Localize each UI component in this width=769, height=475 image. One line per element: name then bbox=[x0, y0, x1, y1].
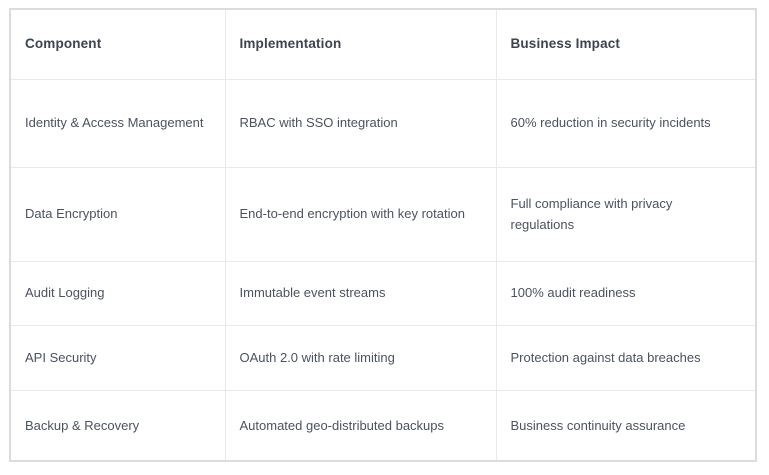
column-header-implementation: Implementation bbox=[225, 10, 496, 79]
cell-business-impact: Full compliance with privacy regulations bbox=[496, 167, 755, 261]
table-row: API Security OAuth 2.0 with rate limitin… bbox=[11, 325, 755, 390]
column-header-business-impact: Business Impact bbox=[496, 10, 755, 79]
table-header: Component Implementation Business Impact bbox=[11, 10, 755, 79]
cell-implementation: End-to-end encryption with key rotation bbox=[225, 167, 496, 261]
column-header-component: Component bbox=[11, 10, 225, 79]
cell-component: Audit Logging bbox=[11, 261, 225, 325]
table-row: Identity & Access Management RBAC with S… bbox=[11, 79, 755, 167]
cell-implementation: Automated geo-distributed backups bbox=[225, 390, 496, 460]
cell-business-impact: Business continuity assurance bbox=[496, 390, 755, 460]
table-row: Data Encryption End-to-end encryption wi… bbox=[11, 167, 755, 261]
table-body: Identity & Access Management RBAC with S… bbox=[11, 79, 755, 460]
cell-component: API Security bbox=[11, 325, 225, 390]
table-row: Backup & Recovery Automated geo-distribu… bbox=[11, 390, 755, 460]
table-row: Audit Logging Immutable event streams 10… bbox=[11, 261, 755, 325]
table-container: Component Implementation Business Impact… bbox=[9, 8, 757, 462]
page-root: Component Implementation Business Impact… bbox=[0, 0, 769, 475]
cell-component: Identity & Access Management bbox=[11, 79, 225, 167]
cell-component: Backup & Recovery bbox=[11, 390, 225, 460]
cell-business-impact: Protection against data breaches bbox=[496, 325, 755, 390]
cell-business-impact: 60% reduction in security incidents bbox=[496, 79, 755, 167]
table-header-row: Component Implementation Business Impact bbox=[11, 10, 755, 79]
cell-implementation: Immutable event streams bbox=[225, 261, 496, 325]
cell-implementation: RBAC with SSO integration bbox=[225, 79, 496, 167]
cell-implementation: OAuth 2.0 with rate limiting bbox=[225, 325, 496, 390]
cell-component: Data Encryption bbox=[11, 167, 225, 261]
cell-business-impact: 100% audit readiness bbox=[496, 261, 755, 325]
security-architecture-table: Component Implementation Business Impact… bbox=[11, 10, 755, 460]
